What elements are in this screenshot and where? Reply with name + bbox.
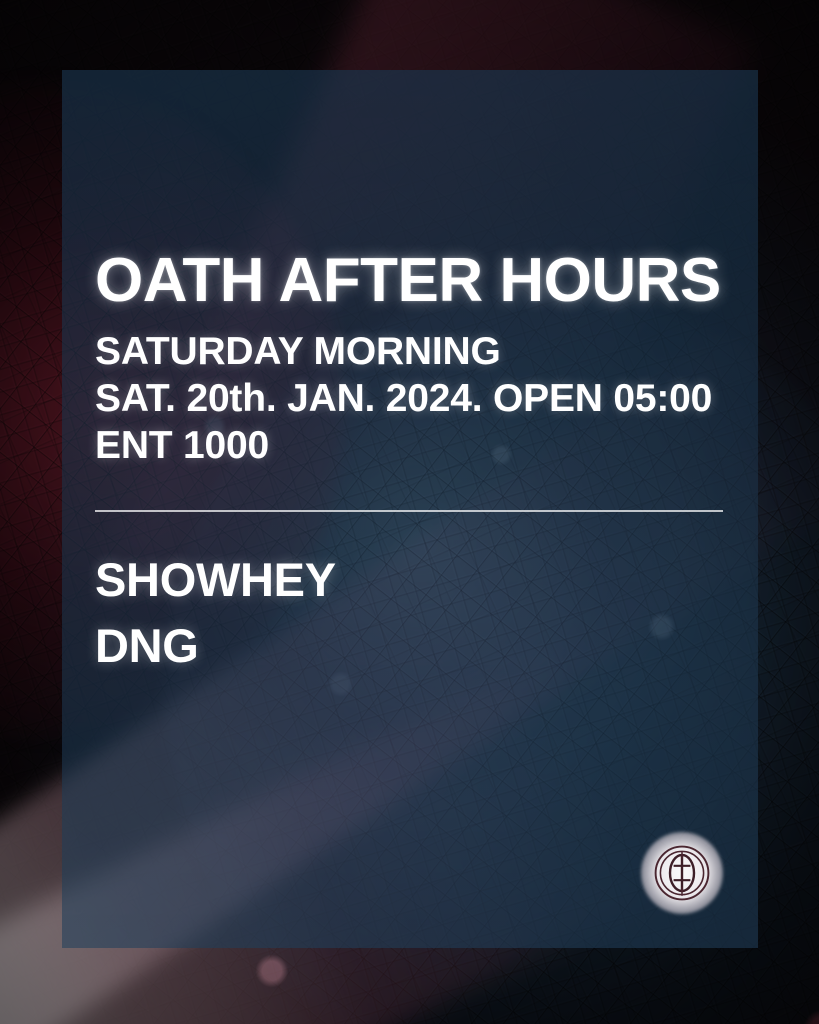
lineup-artist-dng: DNG bbox=[95, 622, 199, 669]
event-entry-price: ENT 1000 bbox=[95, 426, 269, 465]
event-date-and-open-time: SAT. 20th. JAN. 2024. OPEN 05:00 bbox=[95, 379, 712, 418]
lineup-artist-showhey: SHOWHEY bbox=[95, 556, 336, 603]
oath-logo-badge bbox=[641, 832, 723, 914]
event-title: OATH AFTER HOURS bbox=[95, 250, 721, 312]
oath-monogram-icon bbox=[652, 843, 712, 903]
section-divider bbox=[95, 510, 723, 512]
event-subtitle-day: SATURDAY MORNING bbox=[95, 332, 501, 371]
event-flyer-poster: OATH AFTER HOURS SATURDAY MORNING SAT. 2… bbox=[0, 0, 819, 1024]
